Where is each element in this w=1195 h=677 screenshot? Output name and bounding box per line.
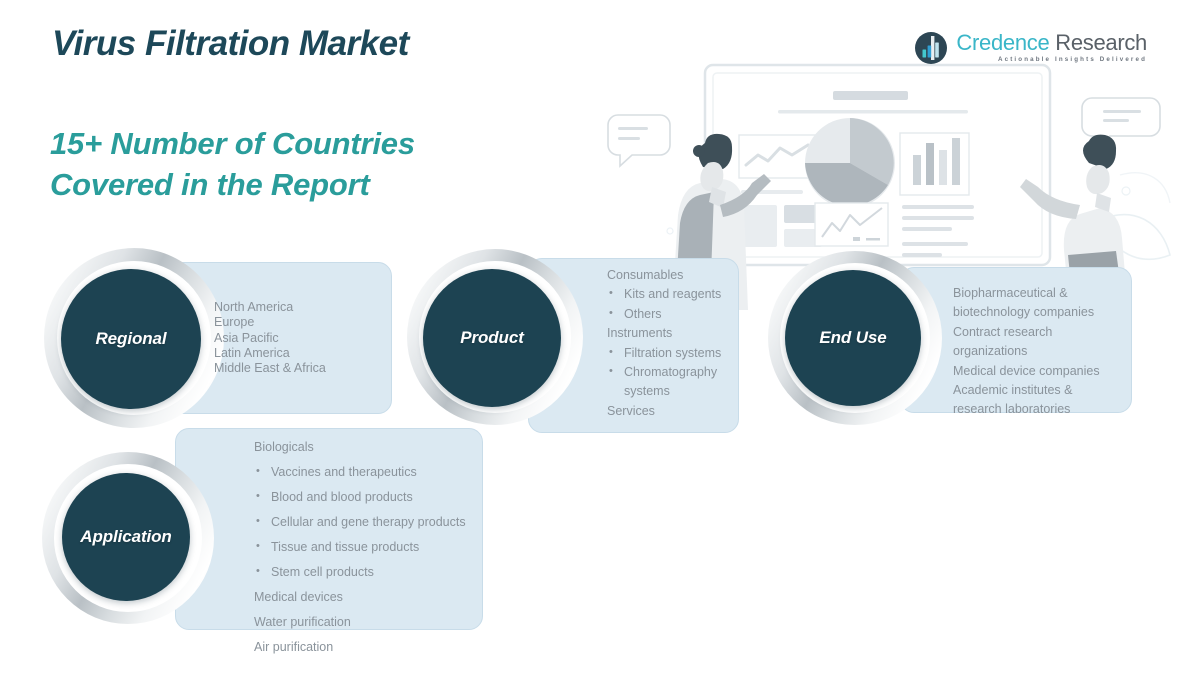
list-item: Chromatography systems	[607, 363, 747, 402]
list-item: Tissue and tissue products	[254, 535, 486, 560]
circle-disc-application[interactable]: Application	[62, 473, 190, 601]
circle-application[interactable]: Application	[42, 452, 214, 624]
list-item: Medical devices	[254, 585, 486, 610]
panel-items-product: Consumables Kits and reagents Others Ins…	[607, 266, 747, 421]
list-item: Biopharmaceutical & biotechnology compan…	[953, 284, 1143, 323]
logo-words: Credence Research	[956, 32, 1147, 54]
list-item: Cellular and gene therapy products	[254, 510, 486, 535]
pie-chart	[805, 118, 895, 208]
page-subtitle: 15+ Number of Countries Covered in the R…	[50, 124, 415, 206]
circle-product[interactable]: Product	[407, 249, 583, 425]
list-item: Water purification	[254, 610, 486, 635]
list-item: Latin America	[214, 346, 394, 361]
circle-disc-product[interactable]: Product	[423, 269, 561, 407]
leaf-decoration	[667, 173, 1170, 260]
list-item: North America	[214, 300, 394, 315]
list-item: Instruments	[607, 324, 747, 343]
list-item: Medical device companies	[953, 362, 1143, 381]
list-item: Biologicals	[254, 435, 486, 460]
list-item: Europe	[214, 315, 394, 330]
segment-label-end-use: End Use	[819, 328, 886, 348]
slide-canvas: Regional North America Europe Asia Pacif…	[0, 0, 1195, 677]
circle-disc-end-use[interactable]: End Use	[785, 270, 921, 406]
bar-chart-circle-icon	[914, 31, 948, 65]
circle-regional[interactable]: Regional	[44, 248, 224, 428]
panel-items-application: Biologicals Vaccines and therapeutics Bl…	[254, 435, 486, 660]
page-subtitle-line1: 15+ Number of Countries	[50, 124, 415, 165]
list-item: Vaccines and therapeutics	[254, 460, 486, 485]
logo-tagline: Actionable Insights Delivered	[956, 57, 1147, 63]
page-title: Virus Filtration Market	[52, 24, 409, 64]
list-item: Filtration systems	[607, 344, 747, 363]
list-item: Contract research organizations	[953, 323, 1143, 362]
list-item: Stem cell products	[254, 560, 486, 585]
circle-end-use[interactable]: End Use	[768, 251, 942, 425]
speech-bubble-left	[608, 115, 670, 166]
panel-items-regional: North America Europe Asia Pacific Latin …	[214, 300, 394, 376]
list-item: Consumables	[607, 266, 747, 285]
list-item: Academic institutes & research laborator…	[953, 381, 1143, 420]
segment-label-product: Product	[460, 328, 524, 348]
logo-word-research: Research	[1055, 30, 1147, 55]
list-item: Others	[607, 305, 747, 324]
panel-items-end-use: Biopharmaceutical & biotechnology compan…	[953, 284, 1143, 420]
segment-label-application: Application	[80, 527, 171, 547]
page-subtitle-line2: Covered in the Report	[50, 165, 415, 206]
list-item: Air purification	[254, 635, 486, 660]
circle-disc-regional[interactable]: Regional	[61, 269, 201, 409]
list-item: Middle East & Africa	[214, 361, 394, 376]
list-item: Blood and blood products	[254, 485, 486, 510]
list-item: Services	[607, 402, 747, 421]
list-item: Kits and reagents	[607, 285, 747, 304]
logo-word-credence: Credence	[956, 30, 1049, 55]
list-item: Asia Pacific	[214, 331, 394, 346]
speech-bubble-right	[1082, 98, 1160, 147]
segment-label-regional: Regional	[96, 329, 167, 349]
logo-wordmark: Credence Research Actionable Insights De…	[956, 32, 1147, 63]
brand-logo: Credence Research Actionable Insights De…	[914, 31, 1147, 65]
